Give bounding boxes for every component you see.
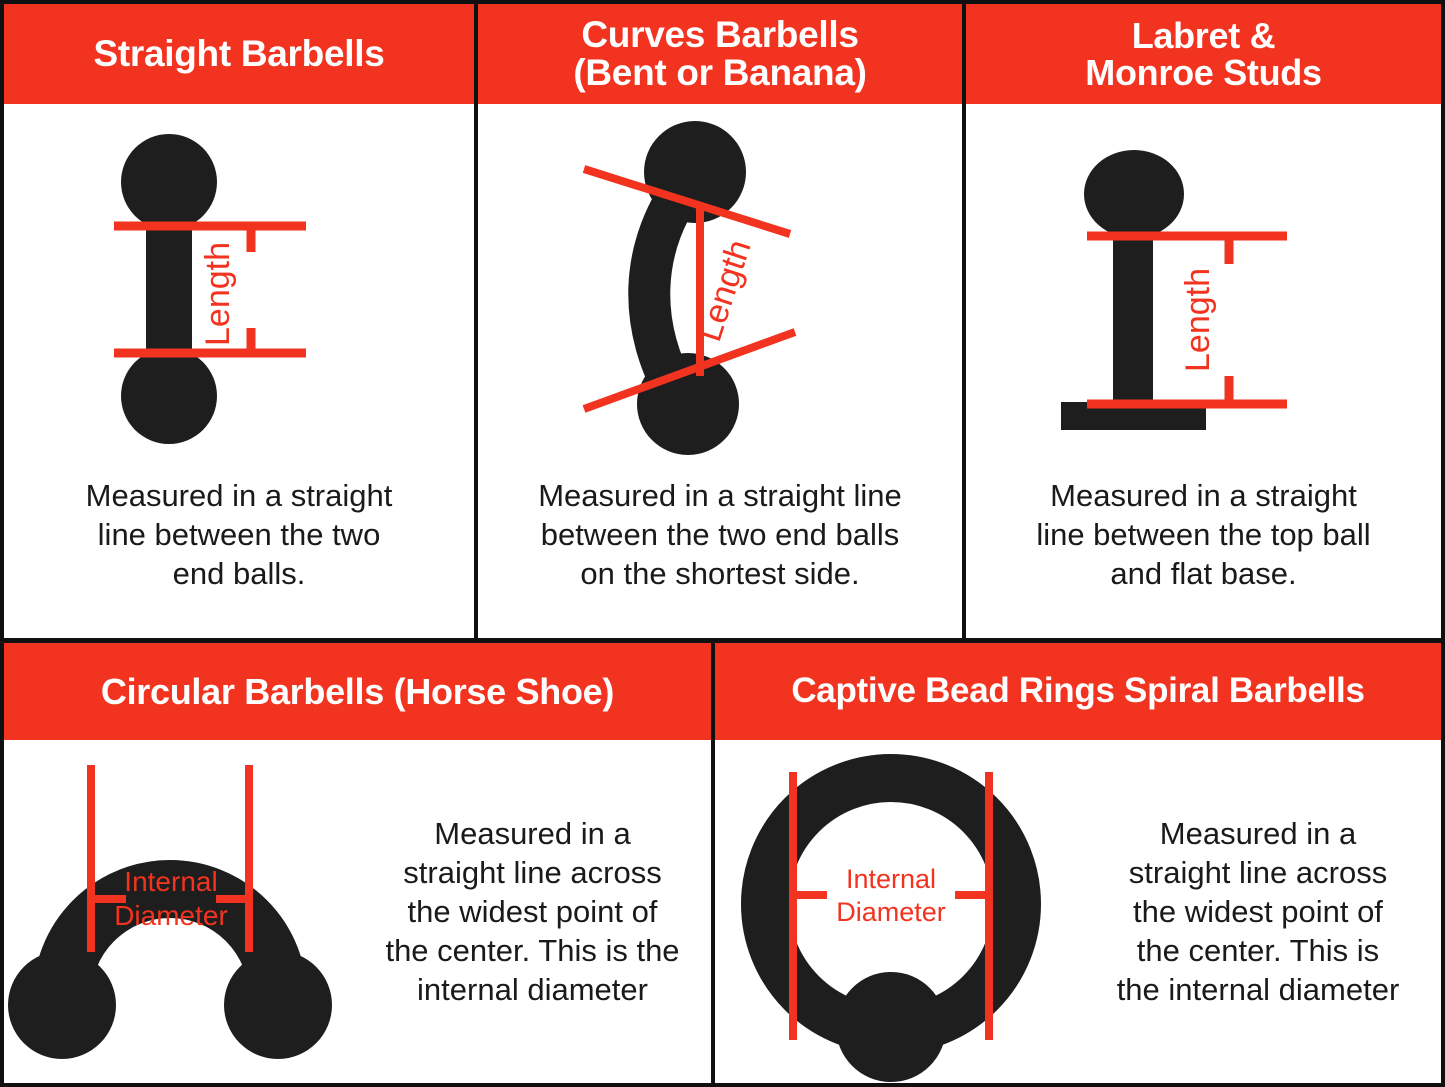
captive-bead-ring-diagram: Internal Diameter [715, 742, 1075, 1082]
horseshoe-diagram: Internal Diameter [4, 747, 354, 1077]
dimension-label-internal-diameter-line2: Diameter [836, 897, 946, 927]
dimension-label-internal-diameter-line2: Diameter [114, 900, 228, 931]
panel-curved-barbells: Curves Barbells (Bent or Banana) Length [478, 4, 962, 638]
dimension-lines [584, 169, 795, 409]
caption-straight-barbells: Measured in a straight line between the … [4, 476, 474, 593]
dimension-label-internal-diameter-line1: Internal [846, 864, 936, 894]
dimension-label-length: Length [1179, 268, 1217, 372]
straight-barbell-diagram: Length [4, 104, 474, 476]
panel-body-captive-bead-rings: Internal Diameter Measured in a straight… [715, 740, 1441, 1083]
panel-body-circular-barbells: Internal Diameter Measured in a straight… [4, 740, 711, 1083]
frame-border-right [1441, 0, 1445, 1087]
panel-title-circular-barbells: Circular Barbells (Horse Shoe) [4, 643, 711, 740]
panel-title-captive-bead-rings: Captive Bead Rings Spiral Barbells [715, 643, 1441, 740]
caption-circular-barbells: Measured in a straight line across the w… [354, 814, 711, 1009]
caption-captive-bead-rings: Measured in a straight line across the w… [1075, 814, 1441, 1009]
measurement-guide-infographic: Straight Barbells Length [0, 0, 1445, 1087]
frame-border-bottom [0, 1083, 1445, 1087]
caption-labret-monroe-studs: Measured in a straight line between the … [966, 476, 1441, 593]
curved-barbell-diagram: Length [478, 104, 962, 476]
panel-straight-barbells: Straight Barbells Length [4, 4, 474, 638]
panel-captive-bead-rings: Captive Bead Rings Spiral Barbells Inter… [715, 643, 1441, 1083]
labret-stud-diagram: Length [966, 104, 1441, 476]
panel-body-curved-barbells: Length Measured in a straight line betwe… [478, 104, 962, 638]
panel-title-straight-barbells: Straight Barbells [4, 4, 474, 104]
dimension-label-length: Length [199, 242, 237, 346]
captive-bead-ring-shape [765, 778, 1017, 1082]
dimension-label-internal-diameter-line1: Internal [124, 866, 217, 897]
caption-curved-barbells: Measured in a straight line between the … [478, 476, 962, 593]
panel-title-labret-monroe-studs: Labret & Monroe Studs [966, 4, 1441, 104]
panel-body-labret-monroe-studs: Length Measured in a straight line betwe… [966, 104, 1441, 638]
panel-title-curved-barbells: Curves Barbells (Bent or Banana) [478, 4, 962, 104]
panel-body-straight-barbells: Length Measured in a straight line betwe… [4, 104, 474, 638]
panel-circular-barbells: Circular Barbells (Horse Shoe) Int [4, 643, 711, 1083]
panel-labret-monroe-studs: Labret & Monroe Studs Length [966, 4, 1441, 638]
